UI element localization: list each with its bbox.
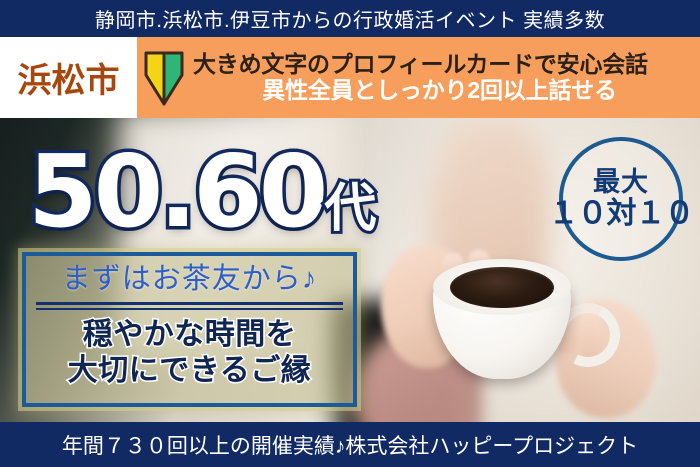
city-badge-label: 浜松市 [18, 53, 120, 102]
feature-strip-body: 大きめ文字のプロフィールカードで安心会話 異性全員としっかり2回以上話せる [137, 37, 700, 118]
capacity-badge: 最大 １０対１０ [559, 137, 683, 261]
message-panel: まずはお茶友から♪ 穏やかな時間を 大切にできるご縁 [22, 252, 357, 407]
message-panel-line-3: 大切にできるご縁 [34, 353, 345, 388]
cup-coffee-surface [450, 267, 554, 308]
feature-strip-lines: 大きめ文字のプロフィールカードで安心会話 異性全員としっかり2回以上話せる [193, 52, 700, 104]
coffee-cup [423, 253, 613, 413]
message-panel-divider [36, 302, 343, 310]
capacity-badge-line-1: 最大 [593, 168, 649, 196]
top-banner: 静岡市.浜松市.伊豆市からの行政婚活イベント 実績多数 [0, 0, 700, 37]
top-banner-text: 静岡市.浜松市.伊豆市からの行政婚活イベント 実績多数 [95, 4, 605, 33]
age-headline: 50.60代 [28, 142, 376, 242]
bottom-banner: 年間７３０回以上の開催実績♪株式会社ハッピープロジェクト [0, 422, 700, 467]
promotional-banner: 静岡市.浜松市.伊豆市からの行政婚活イベント 実績多数 浜松市 大きめ文字のプロ… [0, 0, 700, 467]
feature-strip: 浜松市 大きめ文字のプロフィールカードで安心会話 異性全員としっかり2回以上話せ… [0, 37, 700, 118]
message-panel-line-2: 穏やかな時間を [34, 317, 345, 352]
age-suffix: 代 [324, 179, 376, 239]
feature-line-1: 大きめ文字のプロフィールカードで安心会話 [193, 52, 700, 78]
bottom-banner-text: 年間７３０回以上の開催実績♪株式会社ハッピープロジェクト [62, 430, 638, 460]
wakaba-beginner-mark-icon [143, 49, 185, 107]
city-badge: 浜松市 [0, 37, 137, 118]
age-range: 50.60 [28, 133, 324, 250]
feature-line-2: 異性全員としっかり2回以上話せる [193, 78, 700, 104]
capacity-badge-line-2: １０対１０ [549, 197, 694, 230]
message-panel-headline: まずはお茶友から♪ [34, 263, 345, 296]
